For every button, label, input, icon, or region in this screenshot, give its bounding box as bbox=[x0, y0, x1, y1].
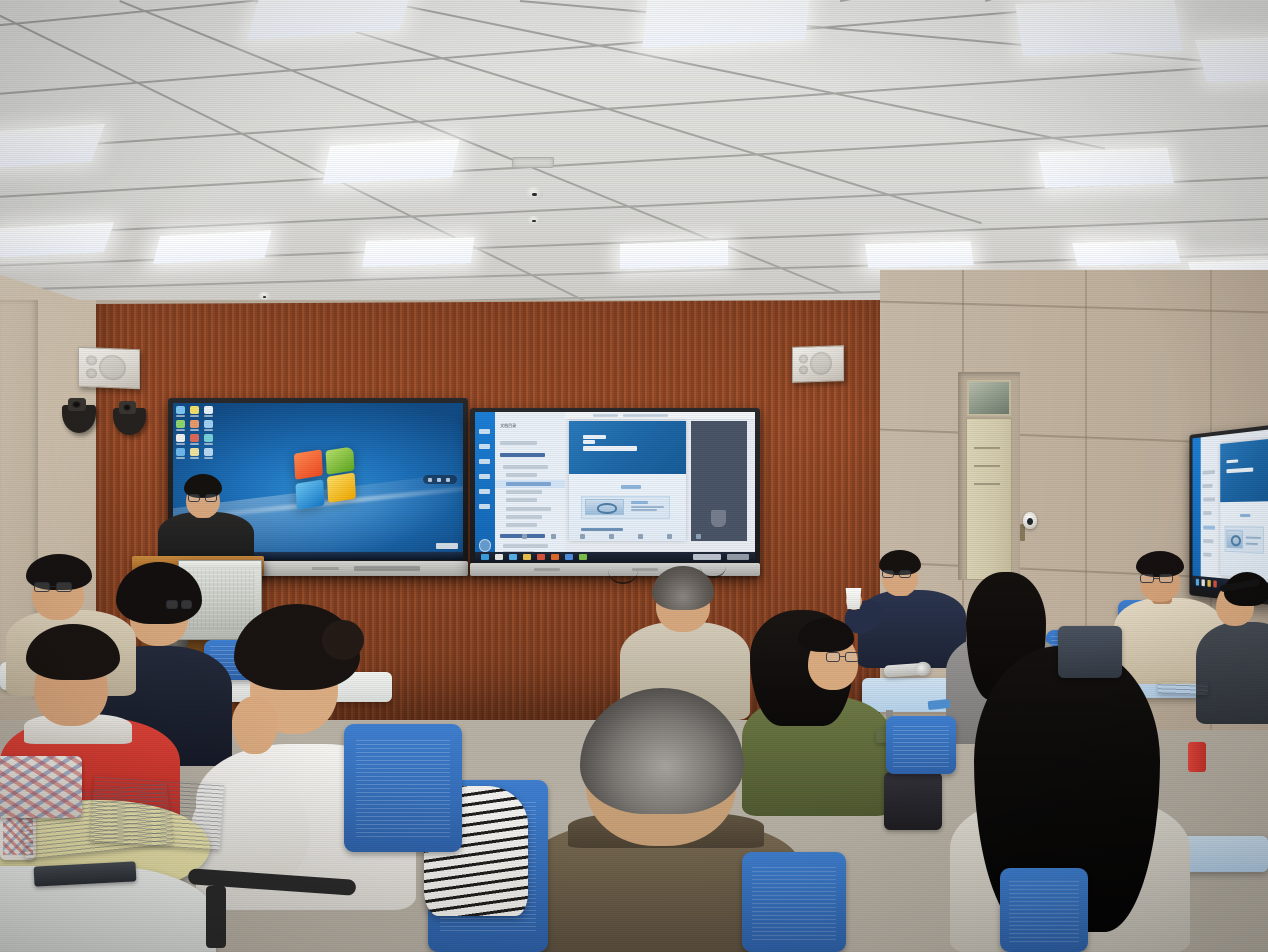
desktop-icon-grid[interactable] bbox=[176, 406, 213, 459]
tool-icon[interactable] bbox=[609, 534, 614, 539]
taskbar-app-icon[interactable] bbox=[537, 554, 545, 560]
slide-card-title bbox=[631, 501, 647, 504]
taskbar-notification-area[interactable] bbox=[436, 543, 458, 549]
outline-item[interactable] bbox=[506, 515, 542, 519]
tool-icon[interactable] bbox=[638, 534, 643, 539]
desktop-icon[interactable] bbox=[204, 406, 213, 417]
tool-icon[interactable] bbox=[551, 534, 556, 539]
desktop-icon[interactable] bbox=[190, 434, 199, 445]
taskbar-app-icon[interactable] bbox=[523, 554, 531, 560]
wall-speaker-icon bbox=[78, 347, 140, 389]
rail-icon[interactable] bbox=[479, 459, 490, 464]
outline-item[interactable] bbox=[500, 441, 536, 445]
hand bbox=[232, 696, 278, 754]
glasses-icon bbox=[826, 652, 860, 662]
taskbar-app-icon[interactable] bbox=[579, 554, 587, 560]
ppt-tab[interactable] bbox=[593, 414, 618, 417]
slide-caption bbox=[621, 485, 641, 489]
outline-item[interactable] bbox=[506, 507, 551, 511]
backpack bbox=[884, 772, 942, 830]
right-display-screen[interactable]: 文档目录 bbox=[475, 412, 755, 562]
rail-icon[interactable] bbox=[479, 489, 490, 494]
backpack bbox=[1058, 626, 1122, 678]
glasses-icon bbox=[166, 600, 192, 609]
tool-icon[interactable] bbox=[696, 534, 701, 539]
outline-item[interactable] bbox=[506, 523, 537, 527]
wps-presentation-window[interactable]: 文档目录 bbox=[475, 412, 755, 562]
desktop-icon[interactable] bbox=[176, 420, 185, 431]
door-transom-window bbox=[967, 380, 1011, 416]
desktop-icon[interactable] bbox=[190, 420, 199, 431]
wall-speaker-right-icon bbox=[792, 345, 844, 383]
handbag bbox=[0, 756, 82, 818]
outline-item[interactable] bbox=[503, 465, 548, 469]
hair-front bbox=[798, 618, 854, 652]
desktop-icon[interactable] bbox=[204, 434, 213, 445]
desktop-icon[interactable] bbox=[176, 434, 185, 445]
student-chair[interactable] bbox=[344, 724, 462, 852]
paper-cup bbox=[845, 588, 862, 609]
outline-header: 文档目录 bbox=[500, 423, 516, 429]
rail-icon[interactable] bbox=[479, 474, 490, 479]
floating-toolbar[interactable] bbox=[423, 475, 457, 484]
ceiling-light-panel bbox=[323, 139, 460, 184]
desktop-icon[interactable] bbox=[190, 448, 199, 459]
ceiling-light-panel bbox=[1015, 0, 1182, 56]
taskbar-start-icon[interactable] bbox=[481, 554, 489, 560]
hair bbox=[652, 566, 714, 610]
user-avatar[interactable] bbox=[479, 539, 492, 552]
tool-icon[interactable] bbox=[580, 534, 585, 539]
red-bottle bbox=[1188, 742, 1206, 772]
glasses-icon bbox=[1140, 574, 1174, 583]
hair bbox=[580, 688, 744, 814]
interactive-flat-panel-right[interactable]: 文档目录 bbox=[470, 408, 760, 576]
presenter-glasses-icon bbox=[188, 494, 218, 502]
glasses-icon bbox=[882, 570, 912, 578]
taskbar-app-icon[interactable] bbox=[495, 554, 503, 560]
tool-icon[interactable] bbox=[667, 534, 672, 539]
ceiling-light-panel bbox=[362, 237, 474, 267]
outline-item[interactable] bbox=[503, 544, 548, 548]
slide-canvas[interactable] bbox=[569, 421, 687, 541]
glasses-icon bbox=[34, 582, 72, 592]
rail-icon[interactable] bbox=[479, 504, 490, 509]
slide-tool-row[interactable] bbox=[503, 534, 744, 538]
windows-logo-icon bbox=[294, 444, 358, 512]
taskbar-app-icon[interactable] bbox=[551, 554, 559, 560]
handheld-microphone[interactable] bbox=[884, 662, 931, 677]
air-vent-icon bbox=[512, 157, 555, 168]
hair-bun bbox=[322, 620, 364, 660]
desktop-icon[interactable] bbox=[204, 448, 213, 459]
smoke-detector-icon bbox=[258, 292, 271, 300]
hair bbox=[26, 624, 120, 680]
desktop-icon[interactable] bbox=[204, 420, 213, 431]
chair-arm bbox=[206, 886, 226, 948]
student-chair[interactable] bbox=[742, 852, 846, 952]
desktop-icon[interactable] bbox=[190, 406, 199, 417]
open-book bbox=[90, 776, 224, 851]
student-chair[interactable] bbox=[1000, 868, 1088, 952]
wall-camera-icon bbox=[1023, 512, 1037, 529]
desktop-icon[interactable] bbox=[176, 448, 185, 459]
wps-icon-rail[interactable] bbox=[475, 412, 495, 562]
attendee-dark-puffer-headband bbox=[1196, 570, 1268, 720]
windows-taskbar[interactable] bbox=[475, 552, 755, 563]
ceiling-light-panel bbox=[1195, 36, 1268, 82]
taskbar-app-icon[interactable] bbox=[565, 554, 573, 560]
outline-item[interactable] bbox=[506, 482, 551, 486]
taskbar-tray-icons[interactable] bbox=[693, 554, 721, 560]
ceiling-light-panel bbox=[1038, 147, 1174, 188]
slide-body bbox=[569, 474, 687, 541]
rail-icon[interactable] bbox=[479, 444, 490, 449]
ppt-tab[interactable] bbox=[623, 414, 668, 417]
document-outline-pane[interactable]: 文档目录 bbox=[495, 412, 565, 562]
ceiling-light-panel bbox=[865, 241, 974, 268]
side-door[interactable] bbox=[966, 418, 1012, 580]
open-book bbox=[1158, 681, 1208, 695]
slide-footer-line bbox=[581, 528, 623, 531]
slide-title-band bbox=[569, 421, 687, 474]
ceiling-light-panel bbox=[1072, 240, 1181, 266]
tool-icon[interactable] bbox=[522, 534, 527, 539]
classroom-scene: 文档目录 bbox=[0, 0, 1268, 952]
taskbar-clock[interactable] bbox=[727, 554, 749, 560]
outline-item[interactable] bbox=[506, 490, 542, 494]
taskbar-app-icon[interactable] bbox=[509, 554, 517, 560]
ceiling-light-panel bbox=[620, 240, 728, 269]
dome-camera-icon bbox=[525, 187, 543, 200]
torso bbox=[1196, 622, 1268, 724]
desktop-icon[interactable] bbox=[176, 406, 185, 417]
outline-item[interactable] bbox=[506, 473, 537, 477]
rail-icon[interactable] bbox=[479, 429, 490, 434]
outline-item[interactable] bbox=[500, 453, 545, 457]
slide-preview-pane[interactable] bbox=[691, 421, 747, 541]
student-chair[interactable] bbox=[886, 716, 956, 774]
outline-item[interactable] bbox=[506, 498, 537, 502]
slide-image-placeholder bbox=[585, 499, 624, 515]
smoke-detector-icon bbox=[527, 216, 541, 225]
